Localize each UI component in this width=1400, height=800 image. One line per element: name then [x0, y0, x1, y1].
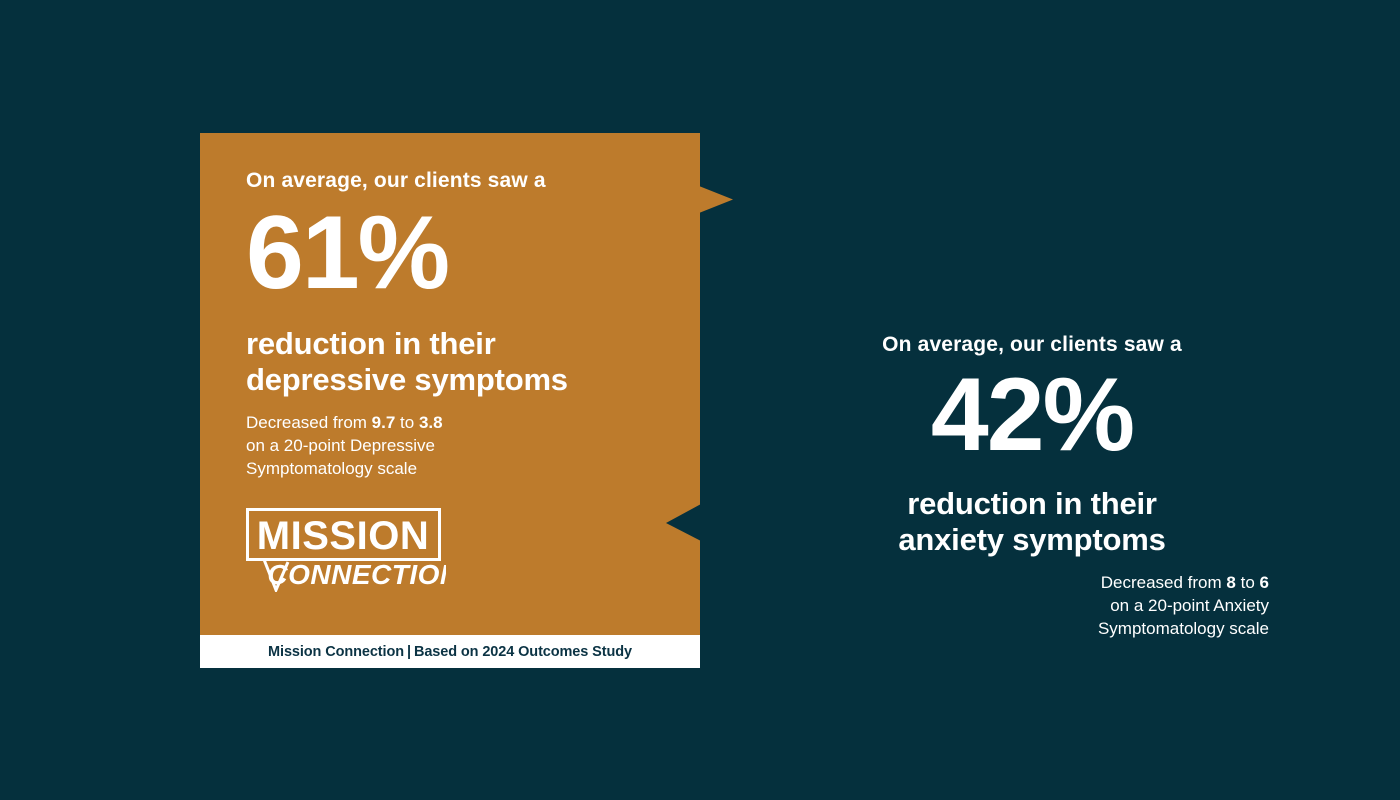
anxiety-detail-middle: to: [1241, 573, 1255, 592]
anxiety-detail-line2: on a 20-point Anxiety: [1110, 596, 1269, 615]
depression-headline-line1: reduction in their: [246, 326, 496, 361]
triangle-right-icon: [699, 186, 733, 213]
depression-big-number: 61%: [246, 206, 666, 302]
footer-brand: Mission Connection: [268, 644, 404, 660]
triangle-left-notch-icon: [666, 504, 701, 541]
footer-source: Based on 2024 Outcomes Study: [414, 644, 632, 660]
depression-headline-line2: depressive symptoms: [246, 362, 568, 397]
depression-detail-line2: on a 20-point Depressive: [246, 436, 435, 455]
depression-detail: Decreased from 9.7 to 3.8 on a 20-point …: [246, 412, 666, 481]
anxiety-from-value: 8: [1226, 573, 1235, 592]
anxiety-detail: Decreased from 8 to 6 on a 20-point Anxi…: [792, 572, 1272, 641]
depression-eyebrow: On average, our clients saw a: [246, 168, 666, 194]
anxiety-stat-block: On average, our clients saw a 42% reduct…: [792, 332, 1272, 641]
anxiety-detail-lead: Decreased from: [1101, 573, 1222, 592]
depression-to-value: 3.8: [419, 413, 443, 432]
anxiety-big-number: 42%: [792, 368, 1272, 464]
depression-card-content: On average, our clients saw a 61% reduct…: [246, 168, 666, 481]
logo-word-mission: MISSION: [257, 514, 429, 558]
anxiety-headline-line2: anxiety symptoms: [898, 522, 1165, 557]
anxiety-headline: reduction in their anxiety symptoms: [792, 486, 1272, 559]
anxiety-eyebrow: On average, our clients saw a: [792, 332, 1272, 358]
infographic-stage: On average, our clients saw a 61% reduct…: [0, 0, 1400, 800]
depression-detail-line3: Symptomatology scale: [246, 459, 417, 478]
depression-headline: reduction in their depressive symptoms: [246, 326, 666, 399]
anxiety-to-value: 6: [1260, 573, 1269, 592]
depression-detail-lead: Decreased from: [246, 413, 367, 432]
footer-separator: |: [404, 644, 414, 660]
anxiety-headline-line1: reduction in their: [907, 486, 1157, 521]
mission-connection-logo: MISSION CONNECTION: [246, 508, 446, 592]
depression-from-value: 9.7: [372, 413, 396, 432]
footer-attribution: Mission Connection|Based on 2024 Outcome…: [268, 644, 632, 660]
card-footer: Mission Connection|Based on 2024 Outcome…: [200, 635, 700, 668]
anxiety-detail-line3: Symptomatology scale: [1098, 619, 1269, 638]
depression-detail-middle: to: [400, 413, 414, 432]
logo-word-connection: CONNECTION: [267, 559, 446, 590]
